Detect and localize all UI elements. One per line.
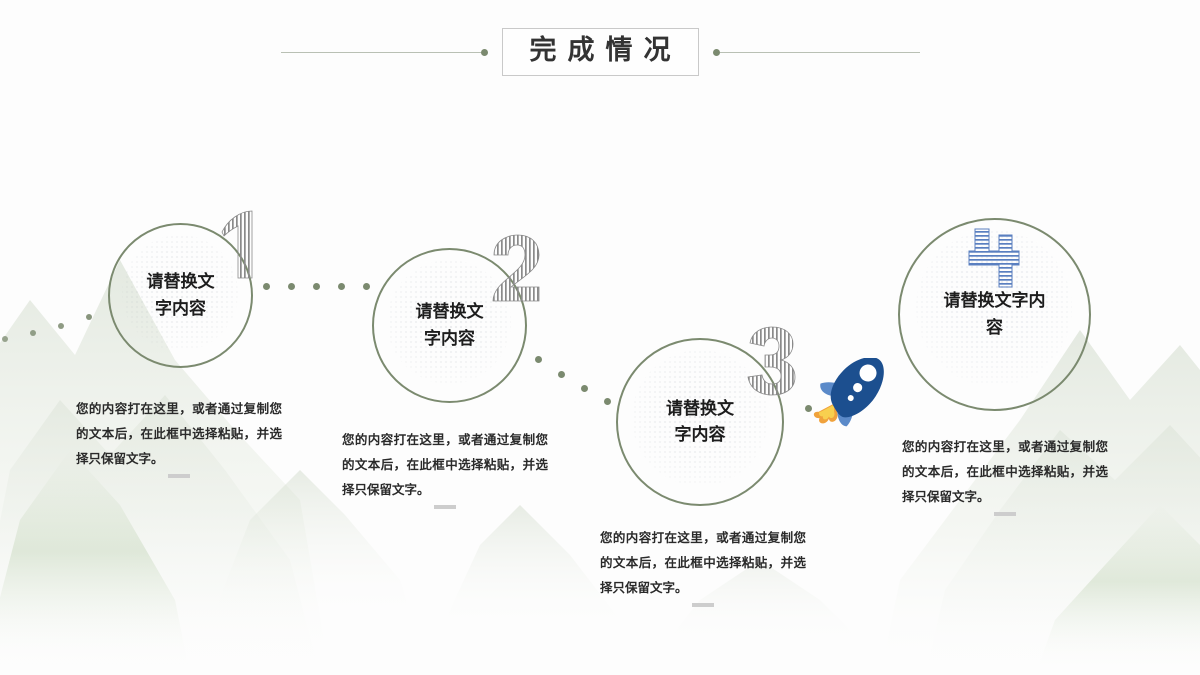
slide-title-row: 完成情况 bbox=[0, 22, 1200, 82]
step-description-2: 您的内容打在这里，或者通过复制您的文本后，在此框中选择粘贴，并选择只保留文字。 bbox=[342, 427, 548, 502]
step-label-2: 请替换文 字内容 bbox=[416, 299, 484, 352]
step-number-2 bbox=[489, 233, 543, 303]
title-box: 完成情况 bbox=[502, 28, 699, 77]
rocket-icon bbox=[806, 358, 898, 430]
step-number-3 bbox=[744, 325, 798, 397]
title-rule-right bbox=[720, 52, 920, 53]
step-dash-2 bbox=[434, 505, 456, 509]
title-dot-right bbox=[713, 49, 720, 56]
title-rule-left bbox=[281, 52, 481, 53]
step-number-1 bbox=[212, 208, 268, 280]
step-label-4: 请替换文字内 容 bbox=[928, 288, 1062, 341]
step-number-4 bbox=[965, 227, 1021, 289]
step-description-4: 您的内容打在这里，或者通过复制您的文本后，在此框中选择粘贴，并选择只保留文字。 bbox=[902, 434, 1108, 509]
step-dash-1 bbox=[168, 474, 190, 478]
step-description-3: 您的内容打在这里，或者通过复制您的文本后，在此框中选择粘贴，并选择只保留文字。 bbox=[600, 525, 806, 600]
page-title: 完成情况 bbox=[519, 34, 682, 68]
title-dot-left bbox=[481, 49, 488, 56]
step-label-1: 请替换文 字内容 bbox=[147, 269, 215, 322]
slide-canvas: 完成情况 bbox=[0, 0, 1200, 675]
step-dash-3 bbox=[692, 603, 714, 607]
step-description-1: 您的内容打在这里，或者通过复制您的文本后，在此框中选择粘贴，并选择只保留文字。 bbox=[76, 396, 282, 471]
step-dash-4 bbox=[994, 512, 1016, 516]
step-label-3: 请替换文 字内容 bbox=[666, 396, 734, 449]
